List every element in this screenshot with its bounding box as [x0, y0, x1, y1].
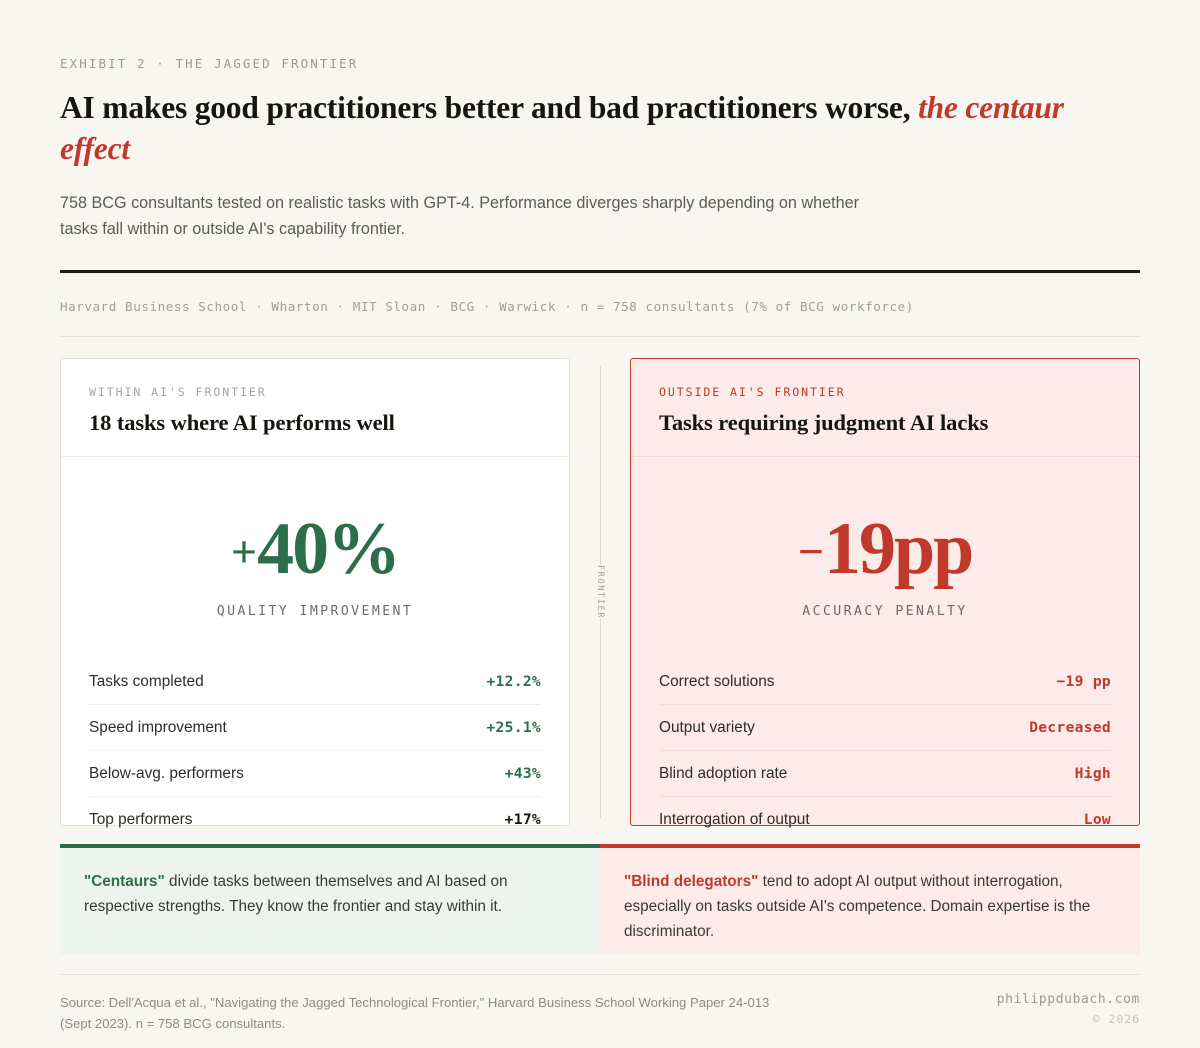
- row-value: Decreased: [1029, 719, 1111, 736]
- table-row: Interrogation of output Low: [659, 797, 1111, 842]
- callout-left-lead: "Centaurs": [84, 873, 165, 890]
- callout-right-text: "Blind delegators" tend to adopt AI outp…: [624, 870, 1116, 944]
- row-label: Interrogation of output: [659, 811, 810, 829]
- row-label: Top performers: [89, 811, 193, 829]
- comparison-cards: WITHIN AI'S FRONTIER 18 tasks where AI p…: [60, 358, 1140, 826]
- left-headline-metric: +40% QUALITY IMPROVEMENT: [61, 457, 569, 658]
- footer: Source: Dell'Acqua et al., "Navigating t…: [60, 975, 1140, 1034]
- row-value: +25.1%: [486, 719, 541, 736]
- site-url: philippdubach.com: [997, 992, 1140, 1007]
- row-value: +17%: [505, 811, 541, 828]
- row-label: Speed improvement: [89, 719, 227, 737]
- left-card-header: WITHIN AI'S FRONTIER 18 tasks where AI p…: [61, 359, 569, 457]
- table-row: Top performers +17%: [89, 797, 541, 842]
- meta-divider: [60, 336, 1140, 337]
- row-value: −19 pp: [1056, 673, 1111, 690]
- source-note: Source: Dell'Acqua et al., "Navigating t…: [60, 992, 780, 1034]
- left-card-title: 18 tasks where AI performs well: [89, 410, 541, 436]
- card-outside-frontier: OUTSIDE AI'S FRONTIER Tasks requiring ju…: [630, 358, 1140, 826]
- headline-main: AI makes good practitioners better and b…: [60, 90, 910, 125]
- table-row: Correct solutions −19 pp: [659, 659, 1111, 705]
- page-subtitle: 758 BCG consultants tested on realistic …: [60, 190, 900, 244]
- copyright: © 2026: [997, 1012, 1140, 1026]
- callout-centaurs: "Centaurs" divide tasks between themselv…: [60, 844, 600, 954]
- row-label: Blind adoption rate: [659, 765, 787, 783]
- right-metric-sign: −: [798, 526, 824, 577]
- table-row: Below-avg. performers +43%: [89, 751, 541, 797]
- page-title: AI makes good practitioners better and b…: [60, 87, 1140, 170]
- exhibit-page: EXHIBIT 2 · THE JAGGED FRONTIER AI makes…: [0, 0, 1200, 1048]
- row-value: Low: [1084, 811, 1111, 828]
- callout-blind-delegators: "Blind delegators" tend to adopt AI outp…: [600, 844, 1140, 954]
- table-row: Blind adoption rate High: [659, 751, 1111, 797]
- table-row: Output variety Decreased: [659, 705, 1111, 751]
- left-card-kicker: WITHIN AI'S FRONTIER: [89, 385, 541, 399]
- divider-label: FRONTIER: [591, 565, 609, 619]
- row-label: Tasks completed: [89, 673, 204, 691]
- right-card-kicker: OUTSIDE AI'S FRONTIER: [659, 385, 1111, 399]
- table-row: Speed improvement +25.1%: [89, 705, 541, 751]
- frontier-divider: FRONTIER: [570, 358, 630, 826]
- row-label: Below-avg. performers: [89, 765, 244, 783]
- institutions-meta: Harvard Business School · Wharton · MIT …: [60, 273, 1140, 336]
- right-metric-label: ACCURACY PENALTY: [631, 604, 1139, 619]
- right-metric-number: 19pp: [824, 508, 972, 590]
- row-label: Correct solutions: [659, 673, 774, 691]
- callout-left-text: "Centaurs" divide tasks between themselv…: [84, 870, 576, 920]
- right-card-header: OUTSIDE AI'S FRONTIER Tasks requiring ju…: [631, 359, 1139, 457]
- right-card-title: Tasks requiring judgment AI lacks: [659, 410, 1111, 436]
- callout-strip: "Centaurs" divide tasks between themselv…: [60, 844, 1140, 954]
- row-value: +43%: [505, 765, 541, 782]
- callout-right-lead: "Blind delegators": [624, 873, 758, 890]
- row-value: High: [1075, 765, 1111, 782]
- brand-block: philippdubach.com © 2026: [997, 992, 1140, 1026]
- row-label: Output variety: [659, 719, 755, 737]
- right-metric-value: −19pp: [631, 514, 1139, 584]
- left-metric-sign: +: [231, 526, 257, 577]
- card-within-frontier: WITHIN AI'S FRONTIER 18 tasks where AI p…: [60, 358, 570, 826]
- left-metric-rows: Tasks completed +12.2% Speed improvement…: [61, 659, 569, 852]
- right-metric-rows: Correct solutions −19 pp Output variety …: [631, 659, 1139, 852]
- left-metric-value: +40%: [61, 514, 569, 584]
- right-headline-metric: −19pp ACCURACY PENALTY: [631, 457, 1139, 658]
- left-metric-number: 40%: [257, 508, 399, 590]
- exhibit-eyebrow: EXHIBIT 2 · THE JAGGED FRONTIER: [60, 0, 1140, 71]
- table-row: Tasks completed +12.2%: [89, 659, 541, 705]
- row-value: +12.2%: [486, 673, 541, 690]
- left-metric-label: QUALITY IMPROVEMENT: [61, 604, 569, 619]
